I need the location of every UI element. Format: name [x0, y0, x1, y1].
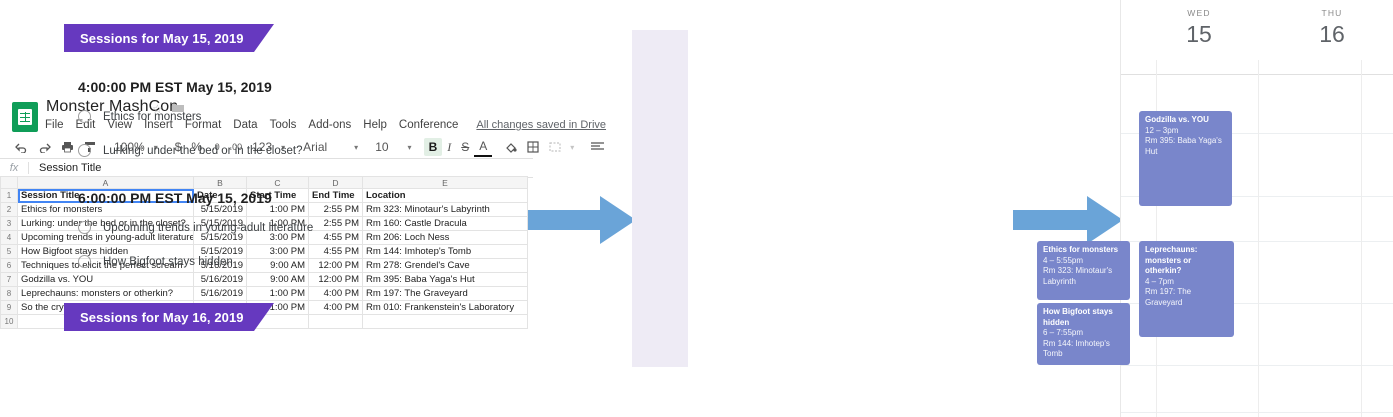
- event-time: 4 – 5:55pm: [1043, 256, 1125, 267]
- option-label: Upcoming trends in young-adult literatur…: [103, 222, 313, 234]
- row-number[interactable]: 10: [1, 315, 18, 329]
- row-number[interactable]: 1: [1, 189, 18, 203]
- event-location: Rm 395: Baba Yaga's Hut: [1145, 136, 1227, 157]
- calendar-event-leprechauns[interactable]: Leprechauns: monsters or otherkin? 4 – 7…: [1139, 241, 1234, 337]
- cell-end[interactable]: 2:55 PM: [309, 203, 363, 217]
- event-time: 4 – 7pm: [1145, 277, 1229, 288]
- ribbon-tail: [254, 303, 274, 331]
- option-label: Lurking: under the bed or in the closet?: [103, 145, 302, 157]
- cell-d1[interactable]: End Time: [309, 189, 363, 203]
- cell-start[interactable]: 9:00 AM: [247, 259, 309, 273]
- cell-location[interactable]: Rm 278: Grendel's Cave: [363, 259, 528, 273]
- menu-item-file[interactable]: File: [45, 119, 70, 131]
- table-row: 8 Leprechauns: monsters or otherkin? 5/1…: [1, 287, 528, 301]
- cell-title[interactable]: Godzilla vs. YOU: [18, 273, 194, 287]
- cell-end[interactable]: 4:00 PM: [309, 301, 363, 315]
- cell-location[interactable]: Rm 160: Castle Dracula: [363, 217, 528, 231]
- fill-color-icon[interactable]: [500, 138, 522, 156]
- time-heading-600pm: 6:00:00 PM EST May 15, 2019: [78, 190, 272, 206]
- cell-location[interactable]: Rm 144: Imhotep's Tomb: [363, 245, 528, 259]
- font-size-select[interactable]: 10: [370, 138, 393, 156]
- day-of-month-label: 15: [1149, 21, 1249, 47]
- cell-location[interactable]: Rm 010: Frankenstein's Laboratory: [363, 301, 528, 315]
- cell-location[interactable]: Rm 206: Loch Ness: [363, 231, 528, 245]
- cell-date[interactable]: 5/16/2019: [194, 287, 247, 301]
- undo-icon[interactable]: [10, 138, 33, 156]
- column-header-a[interactable]: A: [18, 177, 194, 189]
- row-number[interactable]: 5: [1, 245, 18, 259]
- google-sheets-panel: Monster MashCon ☆ File Edit View Insert …: [0, 96, 533, 320]
- radio-unchecked-icon[interactable]: [78, 144, 91, 157]
- row-number[interactable]: 7: [1, 273, 18, 287]
- sheets-logo-icon: [12, 102, 38, 132]
- cell-start[interactable]: 9:00 AM: [247, 273, 309, 287]
- event-title: Leprechauns: monsters or otherkin?: [1145, 245, 1229, 277]
- ribbon-label: Sessions for May 15, 2019: [80, 31, 244, 46]
- event-title: Godzilla vs. YOU: [1145, 115, 1227, 126]
- corner-select-all[interactable]: [1, 177, 18, 189]
- row-number[interactable]: 3: [1, 217, 18, 231]
- event-location: Rm 323: Minotaur's Labyrinth: [1043, 266, 1125, 287]
- cell-title[interactable]: Leprechauns: monsters or otherkin?: [18, 287, 194, 301]
- cell-end[interactable]: 12:00 PM: [309, 273, 363, 287]
- cell-end[interactable]: 4:55 PM: [309, 245, 363, 259]
- save-status-link[interactable]: All changes saved in Drive: [476, 119, 606, 131]
- cell-start[interactable]: 1:00 PM: [247, 287, 309, 301]
- session-option-ethics[interactable]: Ethics for monsters: [78, 110, 201, 123]
- event-title: How Bigfoot stays hidden: [1043, 307, 1125, 328]
- calendar-event-ethics[interactable]: Ethics for monsters 4 – 5:55pm Rm 323: M…: [1037, 241, 1130, 300]
- column-header-row: A B C D E: [1, 177, 528, 189]
- table-row: 7 Godzilla vs. YOU 5/16/2019 9:00 AM 12:…: [1, 273, 528, 287]
- grid-line: [1258, 60, 1259, 417]
- cell-start[interactable]: 3:00 PM: [247, 245, 309, 259]
- radio-unchecked-icon[interactable]: [78, 221, 91, 234]
- arrow-right-icon: [528, 196, 636, 249]
- day-of-month-label: 16: [1282, 21, 1382, 47]
- fx-icon: fx: [0, 162, 28, 174]
- font-family-chevron-down-icon[interactable]: ▾: [350, 138, 362, 156]
- merge-chevron-down-icon[interactable]: ▾: [566, 138, 578, 156]
- redo-icon[interactable]: [33, 138, 56, 156]
- column-header-e[interactable]: E: [363, 177, 528, 189]
- form-side-strip: [632, 30, 688, 367]
- grid-line: [1121, 365, 1393, 366]
- grid-line: [1121, 74, 1393, 75]
- menu-item-data[interactable]: Data: [227, 119, 263, 131]
- day-of-week-label: THU: [1282, 8, 1382, 18]
- print-icon[interactable]: [56, 138, 79, 156]
- calendar-day-wed[interactable]: WED 15: [1149, 8, 1249, 47]
- cell-e1[interactable]: Location: [363, 189, 528, 203]
- day-of-week-label: WED: [1149, 8, 1249, 18]
- cell-location[interactable]: Rm 323: Minotaur's Labyrinth: [363, 203, 528, 217]
- option-label: Ethics for monsters: [103, 111, 201, 123]
- cell-end[interactable]: 2:55 PM: [309, 217, 363, 231]
- row-number[interactable]: 8: [1, 287, 18, 301]
- sessions-form-panel: [632, 30, 902, 367]
- event-time: 12 – 3pm: [1145, 126, 1227, 137]
- calendar-day-thu[interactable]: THU 16: [1282, 8, 1382, 47]
- cell-empty[interactable]: [363, 315, 528, 329]
- radio-unchecked-icon[interactable]: [78, 255, 91, 268]
- session-option-lurking[interactable]: Lurking: under the bed or in the closet?: [78, 144, 302, 157]
- column-header-b[interactable]: B: [194, 177, 247, 189]
- align-left-icon[interactable]: [586, 138, 609, 156]
- menu-item-addons[interactable]: Add-ons: [302, 119, 357, 131]
- strikethrough-button[interactable]: S: [456, 138, 474, 156]
- calendar-event-bigfoot[interactable]: How Bigfoot stays hidden 6 – 7:55pm Rm 1…: [1037, 303, 1130, 365]
- radio-unchecked-icon[interactable]: [78, 110, 91, 123]
- calendar-day-header: WED 15 THU 16: [1121, 0, 1393, 60]
- column-header-d[interactable]: D: [309, 177, 363, 189]
- borders-icon[interactable]: [522, 138, 544, 156]
- option-label: How Bigfoot stays hidden: [103, 256, 233, 268]
- sessions-ribbon-may-15: Sessions for May 15, 2019: [64, 24, 254, 52]
- ribbon-tail: [254, 24, 274, 52]
- grid-line: [1361, 60, 1362, 417]
- cell-location[interactable]: Rm 197: The Graveyard: [363, 287, 528, 301]
- calendar-event-godzilla[interactable]: Godzilla vs. YOU 12 – 3pm Rm 395: Baba Y…: [1139, 111, 1232, 206]
- column-header-c[interactable]: C: [247, 177, 309, 189]
- ribbon-label: Sessions for May 16, 2019: [80, 310, 244, 325]
- row-number[interactable]: 2: [1, 203, 18, 217]
- event-location: Rm 197: The Graveyard: [1145, 287, 1229, 308]
- merge-cells-icon[interactable]: [544, 138, 566, 156]
- grid-line: [1121, 412, 1393, 413]
- formula-bar: fx Session Title: [0, 158, 533, 178]
- event-title: Ethics for monsters: [1043, 245, 1125, 256]
- menu-item-tools[interactable]: Tools: [264, 119, 303, 131]
- cell-location[interactable]: Rm 395: Baba Yaga's Hut: [363, 273, 528, 287]
- italic-button[interactable]: I: [442, 138, 456, 156]
- row-number[interactable]: 4: [1, 231, 18, 245]
- sessions-ribbon-may-16: Sessions for May 16, 2019: [64, 303, 254, 331]
- session-option-bigfoot[interactable]: How Bigfoot stays hidden: [78, 255, 233, 268]
- session-option-upcoming-trends[interactable]: Upcoming trends in young-adult literatur…: [78, 221, 313, 234]
- cell-empty[interactable]: [309, 315, 363, 329]
- cell-date[interactable]: 5/16/2019: [194, 273, 247, 287]
- menu-item-help[interactable]: Help: [357, 119, 393, 131]
- event-time: 6 – 7:55pm: [1043, 328, 1125, 339]
- time-heading-400pm: 4:00:00 PM EST May 15, 2019: [78, 79, 272, 95]
- font-size-chevron-down-icon[interactable]: ▾: [404, 138, 416, 156]
- menu-item-conference[interactable]: Conference: [393, 119, 464, 131]
- event-location: Rm 144: Imhotep's Tomb: [1043, 339, 1125, 360]
- row-number[interactable]: 9: [1, 301, 18, 315]
- bold-button[interactable]: B: [424, 138, 443, 156]
- cell-end[interactable]: 4:55 PM: [309, 231, 363, 245]
- google-calendar-panel: WED 15 THU 16: [1120, 0, 1393, 417]
- formula-input[interactable]: Session Title: [29, 162, 101, 174]
- row-number[interactable]: 6: [1, 259, 18, 273]
- text-color-button[interactable]: A: [474, 137, 492, 157]
- cell-end[interactable]: 12:00 PM: [309, 259, 363, 273]
- form-card: [688, 30, 902, 367]
- cell-end[interactable]: 4:00 PM: [309, 287, 363, 301]
